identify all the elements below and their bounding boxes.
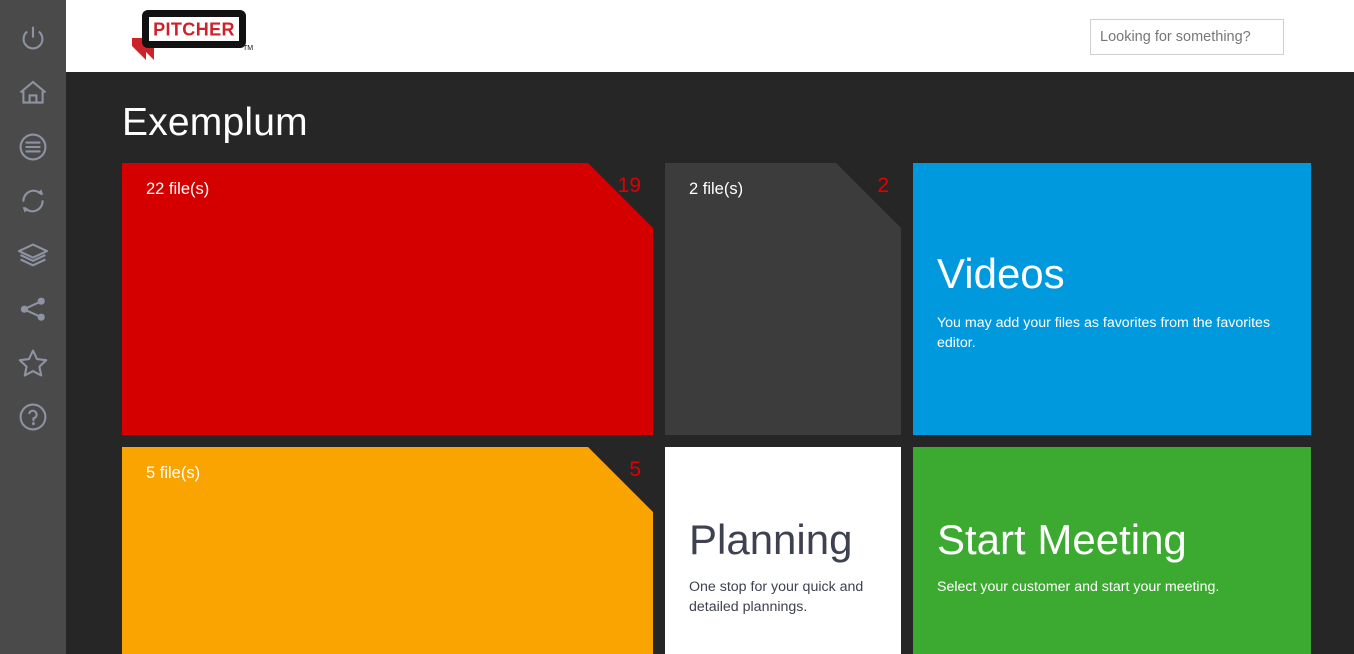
tile-interactives[interactable]: 19 22 file(s) Interactives Your files as…: [122, 163, 653, 435]
tile-planning[interactable]: Planning One stop for your quick and det…: [665, 447, 901, 654]
tile-files-label: 22 file(s): [146, 181, 629, 198]
tile-content: [665, 447, 901, 654]
tile-row-2: 5 5 file(s) Brochures You may change you…: [122, 447, 1354, 654]
top-header: PITCHER TM: [66, 0, 1354, 72]
pitcher-logo[interactable]: PITCHER TM: [128, 4, 254, 66]
tile-presentations[interactable]: 2 2 file(s) Presentations You may always…: [665, 163, 901, 435]
sidebar-item-home[interactable]: [0, 66, 66, 120]
layers-icon: [16, 241, 50, 269]
tile-files-label: 2 file(s): [689, 181, 877, 198]
share-icon: [17, 294, 49, 324]
sidebar-item-layers[interactable]: [0, 228, 66, 282]
tile-content: [913, 447, 1311, 654]
sidebar-item-favorites[interactable]: [0, 336, 66, 390]
sidebar-item-help[interactable]: [0, 390, 66, 444]
tile-content: 22 file(s): [122, 163, 653, 435]
svg-text:PITCHER: PITCHER: [153, 20, 235, 40]
tile-content: 2 file(s): [665, 163, 901, 435]
tile-content: [913, 163, 1311, 435]
tile-videos[interactable]: Videos You may add your files as favorit…: [913, 163, 1311, 435]
tile-start-meeting[interactable]: Start Meeting Select your customer and s…: [913, 447, 1311, 654]
sidebar-item-menu[interactable]: [0, 120, 66, 174]
power-icon: [18, 24, 48, 54]
star-icon: [17, 347, 49, 379]
app-root: PITCHER TM Exemplum 19 22 file(s): [0, 0, 1354, 654]
tile-content: 5 file(s): [122, 447, 653, 654]
menu-icon: [17, 131, 49, 163]
home-icon: [17, 78, 49, 108]
sidebar-item-power[interactable]: [0, 12, 66, 66]
page-title: Exemplum: [122, 103, 308, 142]
tile-grid: 19 22 file(s) Interactives Your files as…: [122, 163, 1354, 654]
tile-brochures[interactable]: 5 5 file(s) Brochures You may change you…: [122, 447, 653, 654]
main-content: Exemplum 19 22 file(s) Interactives Your…: [66, 72, 1354, 654]
left-sidebar: [0, 0, 66, 654]
tile-row-1: 19 22 file(s) Interactives Your files as…: [122, 163, 1354, 435]
sync-icon: [17, 186, 49, 216]
svg-text:TM: TM: [243, 45, 253, 52]
sidebar-item-sync[interactable]: [0, 174, 66, 228]
search-input[interactable]: [1090, 19, 1284, 55]
tile-files-label: 5 file(s): [146, 465, 629, 482]
sidebar-item-share[interactable]: [0, 282, 66, 336]
help-icon: [17, 401, 49, 433]
